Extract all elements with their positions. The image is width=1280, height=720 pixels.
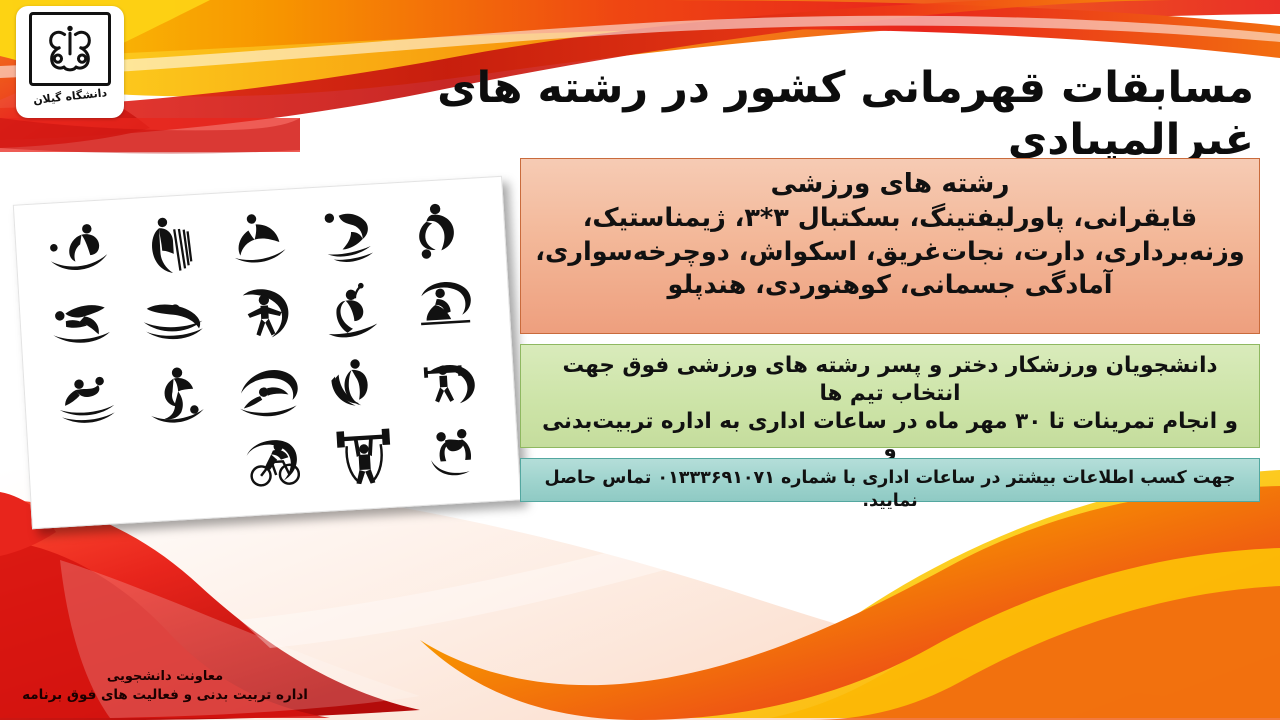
sports-box-line-2: وزنه‌برداری، دارت، نجات‌غریق، اسکواش، دو… xyxy=(535,236,1245,269)
golf-icon xyxy=(316,274,396,346)
fitness-icon xyxy=(225,279,305,351)
logo-caption: دانشگاه گیلان xyxy=(32,86,107,107)
sports-box-line-3: آمادگی جسمانی، کوهنوردی، هندپلو xyxy=(535,269,1245,302)
registration-notice-box: دانشجویان ورزشکار دختر و پسر رشته های ور… xyxy=(520,344,1260,448)
sports-box-heading: رشته های ورزشی xyxy=(535,167,1245,201)
sports-pictograms-card xyxy=(13,176,521,529)
wrestling-icon xyxy=(415,417,495,489)
cycling-icon xyxy=(234,427,314,499)
pictogram-grid xyxy=(14,177,520,528)
diving-icon xyxy=(44,290,124,362)
poster-canvas: دانشگاه گیلان مسابقات قهرمانی کشور در رش… xyxy=(0,0,1280,720)
sports-disciplines-box: رشته های ورزشی قایقرانی، پاورلیفتینگ، بس… xyxy=(520,158,1260,334)
weightlifting-icon xyxy=(324,422,404,494)
notice-line-2: و انجام تمرینات تا ۳۰ مهر ماه در ساعات ا… xyxy=(533,408,1247,464)
contact-text: جهت کسب اطلاعات بیشتر در ساعات اداری با … xyxy=(533,467,1247,513)
university-of-guilan-emblem-icon xyxy=(29,12,111,86)
sports-box-line-1: قایقرانی، پاورلیفتینگ، بسکتبال ۳*۳، ژیمن… xyxy=(535,202,1245,235)
gymnastics-icon xyxy=(406,268,486,340)
notice-line-1: دانشجویان ورزشکار دختر و پسر رشته های ور… xyxy=(533,352,1247,408)
swimming-freestyle-icon xyxy=(229,353,309,425)
archery-icon xyxy=(130,211,210,283)
rowing-icon xyxy=(220,205,300,277)
running-icon xyxy=(139,359,219,431)
swimming-icon xyxy=(134,285,214,357)
volleyball-player-icon xyxy=(311,200,391,272)
soccer-player-icon xyxy=(402,194,482,266)
water-polo-icon xyxy=(48,364,128,436)
page-title: مسابقات قهرمانی کشور در رشته های غیرالمپ… xyxy=(244,62,1254,167)
footer-credits: معاونت دانشجویی اداره تربیت بدنی و فعالی… xyxy=(0,668,330,706)
basketball-icon xyxy=(320,348,400,420)
footer-line-2: اداره تربیت بدنی و فعالیت های فوق برنامه xyxy=(0,686,330,705)
weight-training-icon xyxy=(411,343,491,415)
surfing-icon xyxy=(39,216,119,288)
contact-info-box: جهت کسب اطلاعات بیشتر در ساعات اداری با … xyxy=(520,458,1260,502)
university-logo: دانشگاه گیلان xyxy=(16,6,124,118)
footer-line-1: معاونت دانشجویی xyxy=(0,668,330,686)
